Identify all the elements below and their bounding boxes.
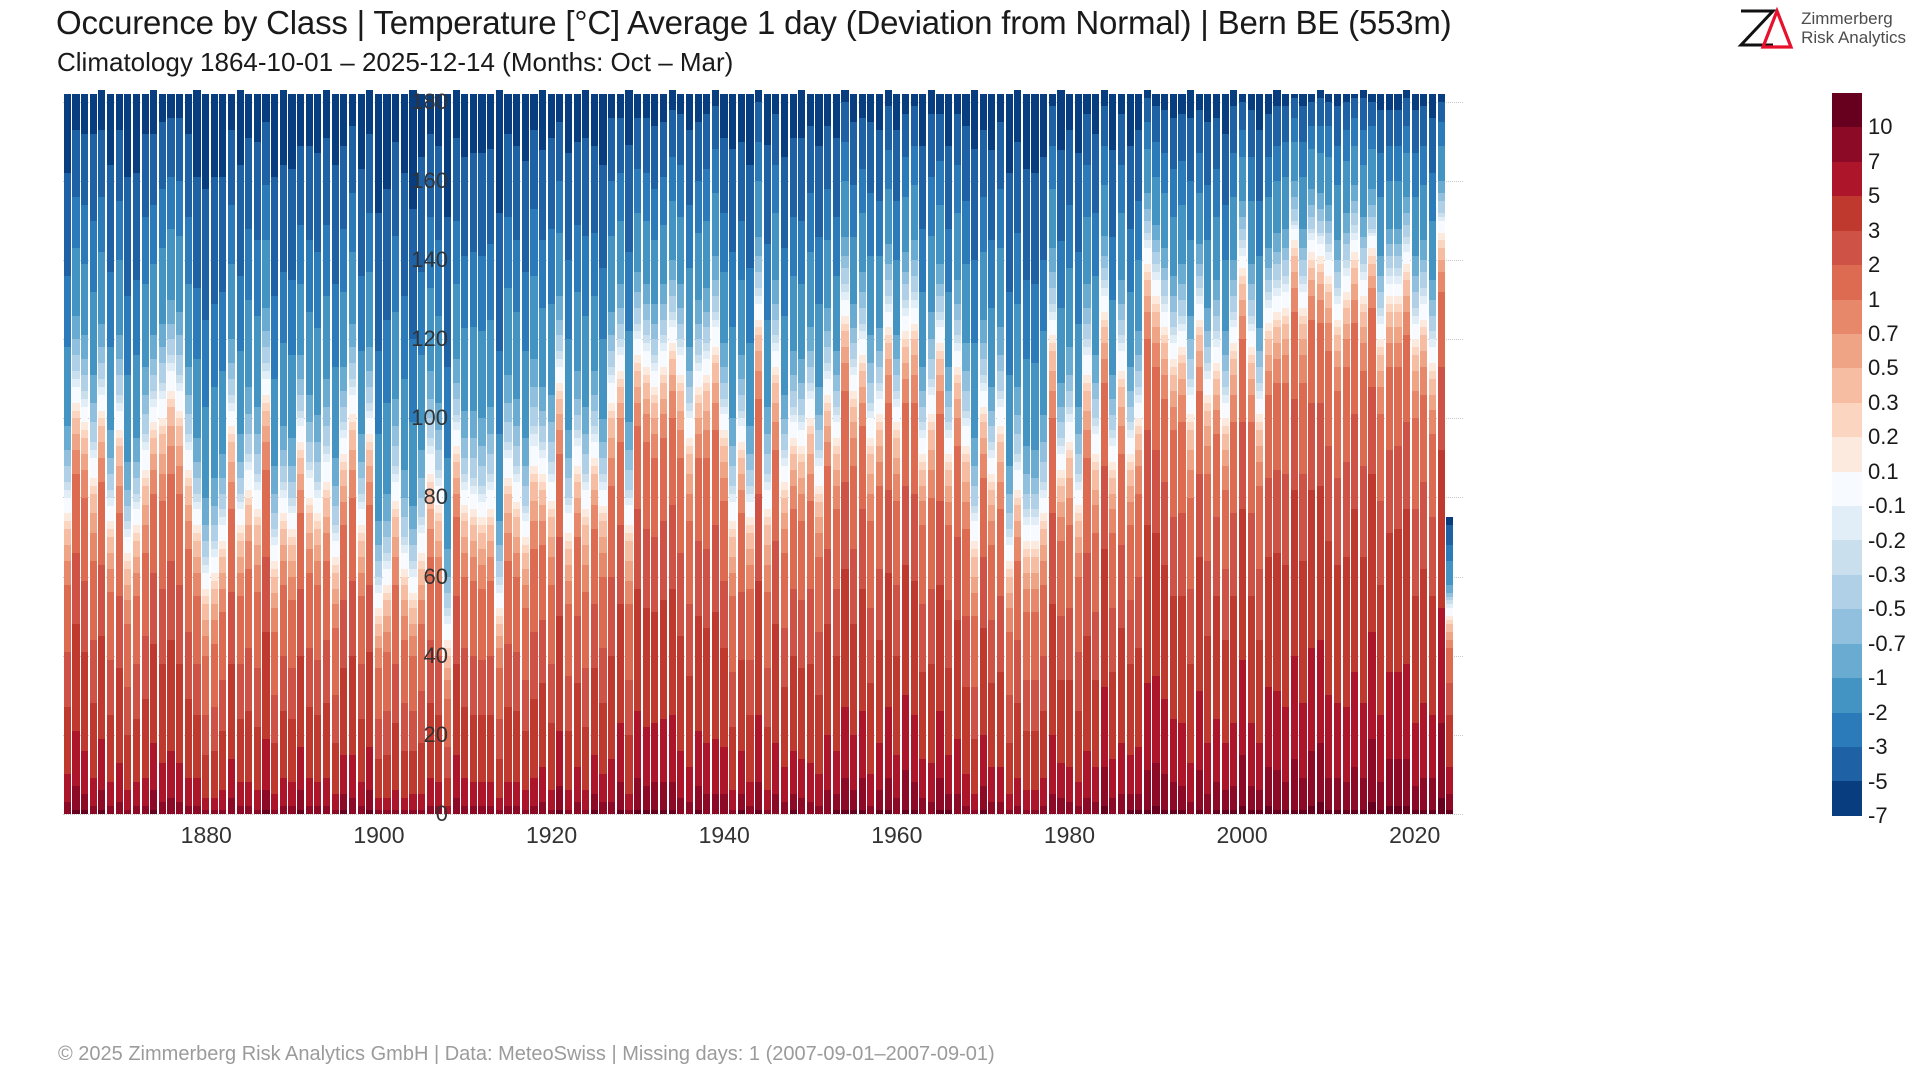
bar-segment (150, 407, 157, 423)
bar-segment (530, 474, 537, 482)
bar-segment (1170, 375, 1177, 391)
bar-segment (513, 466, 520, 474)
bar-segment (349, 347, 356, 363)
bar-segment (167, 324, 174, 340)
bar-segment (1239, 300, 1246, 316)
bar-column (149, 90, 158, 814)
bar-segment (444, 608, 451, 616)
bar-segment (539, 482, 546, 490)
bar-segment (1308, 240, 1315, 252)
bar-segment (185, 94, 192, 134)
bar-segment (176, 118, 183, 181)
bar-segment (133, 719, 140, 782)
bar-segment (772, 213, 779, 280)
bar-segment (1178, 114, 1185, 161)
bar-segment (358, 462, 365, 478)
bar-segment (1161, 153, 1168, 193)
bar-segment (548, 304, 555, 395)
bar-segment (617, 118, 624, 173)
bar-column (504, 90, 513, 814)
bar-segment (478, 446, 485, 466)
colorbar-tick-label: -0.3 (1868, 562, 1906, 588)
bar-segment (824, 363, 831, 371)
bar-segment (409, 529, 416, 545)
bar-segment (1187, 118, 1194, 181)
bar-segment (893, 422, 900, 430)
bar-segment (790, 422, 797, 438)
bar-segment (1230, 197, 1237, 260)
bar-segment (764, 790, 771, 810)
bar-segment (1006, 292, 1013, 375)
bar-segment (1109, 470, 1116, 478)
bar-segment (1403, 197, 1410, 213)
bar-segment (1248, 355, 1255, 363)
bar-segment (202, 189, 209, 320)
bar-segment (306, 462, 313, 470)
bar-segment (271, 529, 278, 537)
bar-segment (124, 585, 131, 601)
bar-segment (1351, 240, 1358, 252)
bar-segment (1101, 767, 1108, 807)
bar-segment (634, 426, 641, 509)
bar-segment (962, 687, 969, 774)
bar-segment (1368, 387, 1375, 474)
bar-segment (513, 474, 520, 482)
bar-segment (1040, 585, 1047, 656)
bar-segment (340, 600, 347, 667)
bar-segment (513, 509, 520, 517)
bar-segment (409, 545, 416, 561)
bar-segment (1057, 486, 1064, 502)
bar-segment (358, 782, 365, 806)
bar-column (1169, 90, 1178, 814)
bar-segment (919, 146, 926, 229)
bar-segment (1101, 296, 1108, 312)
bar-segment (608, 181, 615, 236)
bar-segment (340, 668, 347, 755)
bar-segment (660, 399, 667, 415)
bar-column (538, 90, 547, 814)
bar-segment (824, 347, 831, 363)
bar-segment (124, 624, 131, 687)
bar-segment (340, 810, 347, 814)
bar-segment (202, 407, 209, 498)
bar-segment (409, 608, 416, 624)
bar-segment (418, 517, 425, 525)
bar-segment (686, 454, 693, 474)
bar-segment (798, 454, 805, 462)
bar-segment (962, 502, 969, 530)
bar-segment (1368, 802, 1375, 814)
bar-segment (1360, 237, 1367, 249)
bar-segment (1377, 355, 1384, 371)
bar-segment (539, 505, 546, 521)
bar-segment (954, 794, 961, 814)
bar-segment (1239, 94, 1246, 102)
footer-credits: © 2025 Zimmerberg Risk Analytics GmbH | … (58, 1043, 995, 1066)
bar-segment (1429, 379, 1436, 395)
bar-segment (1308, 268, 1315, 280)
bar-segment (1377, 153, 1384, 197)
bar-column (340, 90, 349, 814)
bar-segment (245, 462, 252, 470)
bar-segment (729, 418, 736, 446)
bar-segment (1325, 221, 1332, 233)
bar-segment (90, 778, 97, 806)
bar-segment (150, 264, 157, 335)
bar-segment (712, 612, 719, 739)
bar-segment (72, 624, 79, 731)
bar-segment (1204, 122, 1211, 185)
bar-segment (116, 395, 123, 403)
bar-segment (176, 494, 183, 585)
bar-segment (366, 466, 373, 482)
bar-segment (738, 426, 745, 442)
bar-segment (1109, 399, 1116, 415)
bar-segment (133, 541, 140, 557)
bar-segment (1438, 798, 1445, 814)
bar-segment (824, 379, 831, 395)
bar-segment (755, 581, 762, 716)
bar-segment (159, 501, 166, 588)
bar-segment (1256, 422, 1263, 430)
bar-segment (1127, 407, 1134, 423)
bar-segment (90, 806, 97, 814)
bar-segment (574, 399, 581, 415)
bar-segment (1334, 185, 1341, 240)
bar-segment (461, 648, 468, 707)
bar-segment (1049, 189, 1056, 248)
bar-segment (288, 482, 295, 498)
bar-segment (815, 486, 822, 494)
colorbar-tick-label: 5 (1868, 183, 1880, 209)
bar-segment (1170, 217, 1177, 276)
bar-segment (280, 165, 287, 272)
bar-segment (1066, 130, 1073, 205)
bar-segment (1291, 256, 1298, 272)
bar-segment (185, 442, 192, 450)
bar-segment (202, 604, 209, 620)
bar-segment (1152, 264, 1159, 272)
bar-segment (254, 482, 261, 490)
bar-segment (885, 335, 892, 343)
bar-segment (1239, 509, 1246, 659)
bar-segment (530, 434, 537, 446)
bar-segment (1308, 648, 1315, 751)
bar-segment (677, 383, 684, 391)
bar-segment (548, 790, 555, 810)
bar-segment (833, 415, 840, 423)
bar-segment (885, 359, 892, 375)
bar-segment (228, 411, 235, 427)
bar-column (979, 90, 988, 814)
bar-segment (591, 94, 598, 145)
bar-segment (332, 533, 339, 541)
bar-segment (1083, 355, 1090, 375)
bar-segment (807, 383, 814, 391)
bar-segment (1144, 149, 1151, 193)
bar-segment (427, 454, 434, 474)
bar-segment (150, 391, 157, 399)
bar-segment (133, 173, 140, 280)
bar-segment (945, 407, 952, 423)
bar-segment (1075, 324, 1082, 407)
bar-segment (1282, 142, 1289, 178)
bar-segment (237, 276, 244, 351)
bar-segment (669, 715, 676, 782)
bar-segment (919, 486, 926, 502)
bar-segment (651, 434, 658, 458)
bar-segment (116, 359, 123, 375)
bar-segment (470, 517, 477, 525)
bar-segment (634, 308, 641, 324)
bar-column (426, 90, 435, 814)
bar-segment (81, 134, 88, 205)
bar-segment (798, 759, 805, 799)
bar-segment (1083, 391, 1090, 411)
bar-segment (703, 327, 710, 343)
bar-segment (1291, 759, 1298, 810)
bar-segment (366, 418, 373, 434)
bar-segment (1420, 185, 1427, 240)
bar-segment (1299, 308, 1306, 316)
bar-segment (625, 810, 632, 814)
bar-segment (90, 442, 97, 450)
bar-segment (487, 806, 494, 814)
bar-segment (651, 782, 658, 810)
bar-segment (1265, 114, 1272, 158)
bar-segment (876, 328, 883, 352)
bar-segment (1386, 296, 1393, 304)
bar-segment (1265, 300, 1272, 308)
bar-segment (997, 442, 1004, 462)
bar-segment (496, 810, 503, 814)
bar-segment (1420, 94, 1427, 106)
bar-segment (1438, 102, 1445, 122)
bar-segment (729, 521, 736, 529)
bar-segment (893, 375, 900, 391)
bar-segment (1213, 782, 1220, 810)
bar-segment (288, 719, 295, 782)
bar-segment (159, 189, 166, 248)
bar-segment (548, 585, 555, 664)
bar-segment (349, 94, 356, 126)
bar-segment (323, 640, 330, 703)
bar-segment (720, 478, 727, 502)
bar-segment (591, 146, 598, 233)
bar-segment (591, 371, 598, 395)
bar-segment (565, 339, 572, 430)
bar-column (737, 90, 746, 814)
bar-segment (202, 565, 209, 573)
bar-segment (262, 347, 269, 363)
bar-segment (712, 90, 719, 106)
bar-segment (1273, 296, 1280, 312)
bar-segment (815, 458, 822, 466)
bar-segment (297, 589, 304, 656)
bar-segment (383, 600, 390, 616)
bar-segment (1092, 533, 1099, 612)
bar-segment (1325, 284, 1332, 292)
bar-segment (1360, 165, 1367, 216)
bar-segment (1101, 256, 1108, 268)
bar-segment (1282, 284, 1289, 292)
bar-segment (513, 146, 520, 241)
bar-segment (1023, 549, 1030, 557)
bar-segment (487, 715, 494, 782)
bar-segment (1394, 94, 1401, 110)
bar-segment (1394, 672, 1401, 759)
bar-segment (720, 501, 727, 580)
bar-segment (297, 474, 304, 490)
bar-segment (461, 707, 468, 778)
bar-segment (124, 296, 131, 375)
colorbar-swatch (1832, 472, 1862, 506)
bar-segment (669, 343, 676, 351)
bar-segment (1317, 221, 1324, 233)
bar-segment (815, 806, 822, 814)
bar-segment (314, 490, 321, 498)
bar-segment (815, 774, 822, 806)
bar-segment (237, 573, 244, 597)
bar-segment (332, 628, 339, 695)
bar-segment (1127, 486, 1134, 502)
bar-segment (245, 414, 252, 434)
bar-segment (556, 122, 563, 181)
bar-segment (669, 260, 676, 280)
bar-segment (81, 438, 88, 454)
bar-segment (591, 810, 598, 814)
bar-column (1385, 90, 1394, 814)
bar-column (616, 90, 625, 814)
bar-segment (358, 494, 365, 502)
bar-segment (1049, 735, 1056, 794)
colorbar-tick-label: -0.2 (1868, 528, 1906, 554)
bar-segment (1222, 371, 1229, 387)
bar-segment (928, 395, 935, 415)
bar-segment (539, 90, 546, 149)
colorbar-swatch (1832, 437, 1862, 471)
bar-segment (1273, 181, 1280, 232)
bar-segment (1230, 351, 1237, 359)
bar-segment (729, 573, 736, 597)
bar-segment (401, 537, 408, 545)
bar-segment (928, 422, 935, 430)
bar-segment (1178, 284, 1185, 300)
bar-segment (1343, 244, 1350, 260)
bar-segment (651, 403, 658, 419)
bar-segment (1412, 418, 1419, 509)
bar-segment (919, 470, 926, 486)
bar-segment (1386, 181, 1393, 228)
bar-segment (349, 470, 356, 498)
bar-segment (738, 592, 745, 659)
bar-segment (936, 327, 943, 343)
bar-segment (1031, 363, 1038, 450)
bar-segment (323, 379, 330, 407)
bar-segment (150, 359, 157, 375)
bar-segment (772, 280, 779, 304)
bar-segment (755, 272, 762, 288)
bar-segment (911, 782, 918, 810)
bar-segment (1014, 387, 1021, 415)
bar-segment (1386, 256, 1393, 268)
bar-segment (1291, 399, 1298, 490)
bar-segment (1196, 691, 1203, 770)
bar-segment (401, 616, 408, 640)
bar-segment (1006, 494, 1013, 514)
bar-segment (677, 391, 684, 411)
bar-segment (1057, 502, 1064, 518)
bar-segment (798, 494, 805, 522)
bar-segment (262, 557, 269, 632)
bar-segment (548, 138, 555, 229)
bar-segment (297, 426, 304, 442)
bar-segment (695, 458, 702, 541)
bar-segment (919, 501, 926, 525)
bar-segment (591, 668, 598, 755)
bar-segment (254, 509, 261, 517)
bar-segment (228, 426, 235, 434)
bar-segment (1256, 640, 1263, 743)
bar-segment (176, 181, 183, 236)
bar-segment (746, 533, 753, 549)
bar-segment (815, 517, 822, 533)
bar-segment (1066, 767, 1073, 803)
bar-segment (176, 391, 183, 411)
bar-segment (219, 557, 226, 573)
bar-segment (962, 418, 969, 426)
bar-segment (954, 335, 961, 343)
bar-segment (634, 118, 641, 169)
bar-segment (496, 213, 503, 351)
bar-segment (695, 786, 702, 810)
bar-segment (902, 486, 909, 565)
bar-segment (660, 782, 667, 810)
bar-segment (634, 331, 641, 339)
bar-segment (1196, 391, 1203, 474)
bar-segment (401, 517, 408, 537)
bar-segment (1351, 414, 1358, 509)
bar-segment (1248, 596, 1255, 723)
bar-segment (919, 759, 926, 799)
bar-segment (1135, 260, 1142, 331)
bar-segment (1412, 339, 1419, 347)
bar-segment (928, 470, 935, 498)
bar-segment (1282, 565, 1289, 707)
bar-segment (116, 446, 123, 466)
colorbar-swatch (1832, 713, 1862, 747)
bar-segment (1075, 490, 1082, 506)
bar-segment (167, 94, 174, 118)
bar-segment (738, 411, 745, 419)
bar-segment (565, 458, 572, 478)
bar-segment (323, 225, 330, 296)
bar-segment (1325, 323, 1332, 351)
bar-segment (885, 280, 892, 296)
bar-segment (574, 474, 581, 482)
bar-segment (219, 509, 226, 517)
bar-segment (340, 229, 347, 292)
bar-segment (1161, 343, 1168, 359)
bar-segment (695, 233, 702, 300)
bar-segment (349, 126, 356, 193)
bar-segment (755, 320, 762, 328)
bar-segment (1325, 308, 1332, 324)
bar-column (158, 90, 167, 814)
bar-segment (729, 94, 736, 149)
bar-segment (556, 233, 563, 296)
